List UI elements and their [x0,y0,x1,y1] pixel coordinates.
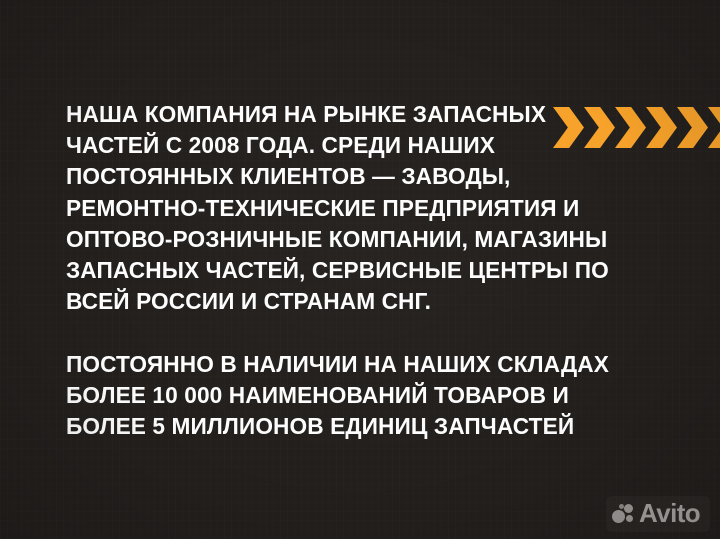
copy-line: БОЛЕЕ 10 000 НАИМЕНОВАНИЙ ТОВАРОВ И [66,380,587,411]
chevron-right-icon [615,107,646,148]
avito-watermark: Avito [606,496,710,532]
advertisement-banner: НАША КОМПАНИЯ НА РЫНКЕ ЗАПАСНЫХ ЧАСТЕЙ С… [0,0,720,539]
chevron-right-icon [708,107,720,148]
paragraph-company-profile: НАША КОМПАНИЯ НА РЫНКЕ ЗАПАСНЫХ ЧАСТЕЙ С… [66,99,606,317]
avito-wordmark: Avito [639,500,700,526]
copy-line: РЕМОНТНО-ТЕХНИЧЕСКИЕ ПРЕДПРИЯТИЯ И [66,193,587,224]
logo-dot [624,504,633,513]
body-copy: НАША КОМПАНИЯ НА РЫНКЕ ЗАПАСНЫХ ЧАСТЕЙ С… [66,99,606,442]
logo-dot [619,504,624,509]
copy-line: ОПТОВО-РОЗНИЧНЫЕ КОМПАНИИ, МАГАЗИНЫ [66,224,587,255]
copy-line: НАША КОМПАНИЯ НА РЫНКЕ ЗАПАСНЫХ [66,99,587,130]
paragraph-stock-availability: ПОСТОЯННО В НАЛИЧИИ НА НАШИХ СКЛАДАХ БОЛ… [66,349,606,443]
logo-dot [626,515,633,522]
copy-line: ПОСТОЯННО В НАЛИЧИИ НА НАШИХ СКЛАДАХ [66,349,587,380]
avito-dots-logo-icon [612,502,638,526]
chevron-right-icon [646,107,677,148]
paragraph-spacer [66,317,606,348]
copy-line: ЧАСТЕЙ С 2008 ГОДА. СРЕДИ НАШИХ [66,130,587,161]
copy-line: ЗАПАСНЫХ ЧАСТЕЙ, СЕРВИСНЫЕ ЦЕНТРЫ ПО [66,255,587,286]
logo-dot [612,510,625,523]
copy-line: БОЛЕЕ 5 МИЛЛИОНОВ ЕДИНИЦ ЗАПЧАСТЕЙ [66,411,587,442]
chevron-right-icon [677,107,708,148]
copy-line: ВСЕЙ РОССИИ И СТРАНАМ СНГ. [66,286,587,317]
copy-line: ПОСТОЯННЫХ КЛИЕНТОВ — ЗАВОДЫ, [66,161,587,192]
